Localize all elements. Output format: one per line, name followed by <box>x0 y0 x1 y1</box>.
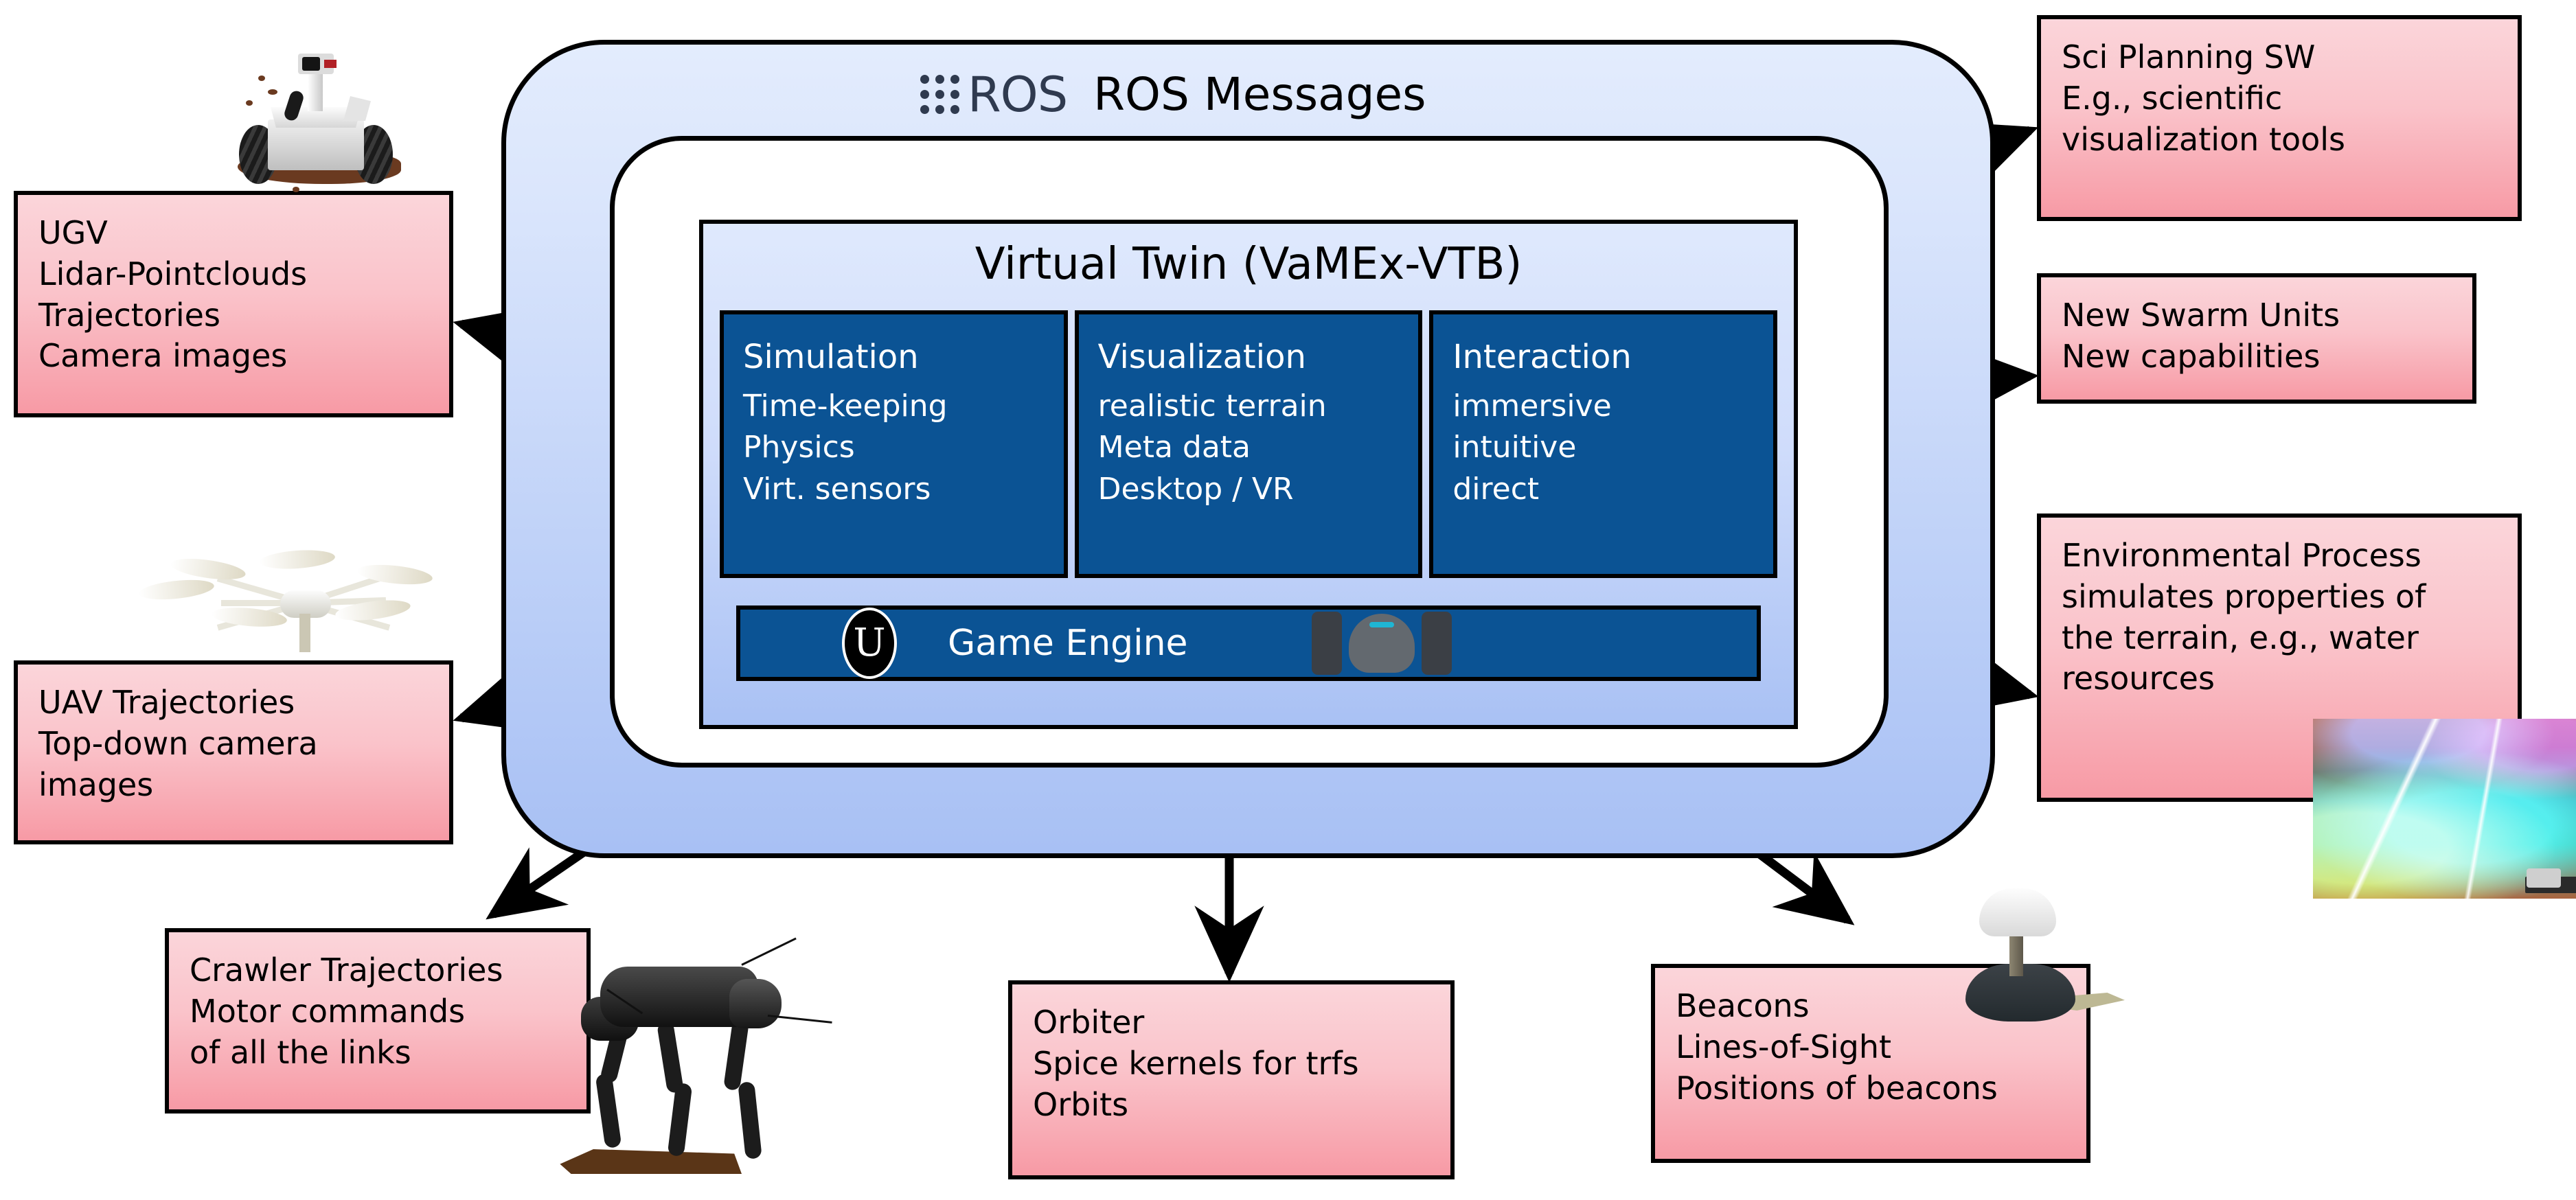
column-interaction-line-2: intuitive <box>1452 427 1755 468</box>
node-sci-planning: Sci Planning SW E.g., scientific visuali… <box>2037 15 2522 221</box>
node-beacons: Beacons Lines-of-Sight Positions of beac… <box>1651 964 2090 1163</box>
column-visualization-line-2: Meta data <box>1098 427 1401 468</box>
node-uav-line-3: images <box>38 765 429 806</box>
node-environment-line-3: the terrain, e.g., water <box>2062 618 2497 659</box>
vr-controller-right-icon <box>1422 612 1452 675</box>
unreal-engine-logo-icon: U <box>842 608 897 679</box>
node-environmental-process: Environmental Process simulates properti… <box>2037 514 2522 802</box>
unreal-logo-glyph: U <box>853 624 885 662</box>
node-orbiter-line-1: Orbiter <box>1033 1002 1430 1043</box>
vr-headset-and-controllers-icon <box>1312 612 1452 675</box>
vr-headset-icon <box>1349 614 1415 673</box>
virtual-twin-columns: Simulation Time-keeping Physics Virt. se… <box>720 310 1777 578</box>
ros-messages-label: ROS Messages <box>1093 68 1426 121</box>
virtual-twin-title: Virtual Twin (VaMEx-VTB) <box>703 239 1794 290</box>
node-sci-planning-line-1: Sci Planning SW <box>2062 37 2497 78</box>
game-engine-bar: U Game Engine <box>736 605 1761 681</box>
virtual-twin-ellipsis: ... <box>747 587 779 602</box>
node-crawler: Crawler Trajectories Motor commands of a… <box>165 928 591 1114</box>
node-sci-planning-line-3: visualization tools <box>2062 119 2497 161</box>
ros-logo-text: ROS <box>968 67 1067 123</box>
node-orbiter-line-2: Spice kernels for trfs <box>1033 1043 1430 1085</box>
column-simulation-heading: Simulation <box>743 338 1046 376</box>
node-uav-line-1: UAV Trajectories <box>38 682 429 724</box>
ros-logo: ROS <box>920 67 1067 123</box>
column-visualization-line-3: Desktop / VR <box>1098 469 1401 510</box>
node-beacons-line-3: Positions of beacons <box>1676 1068 2066 1109</box>
node-new-swarm-units: New Swarm Units New capabilities <box>2037 273 2476 404</box>
node-orbiter: Orbiter Spice kernels for trfs Orbits <box>1008 980 1455 1179</box>
node-crawler-line-2: Motor commands <box>190 991 566 1032</box>
node-ugv-line-4: Camera images <box>38 336 429 377</box>
node-uav-line-2: Top-down camera <box>38 724 429 765</box>
node-sci-planning-line-2: E.g., scientific <box>2062 78 2497 119</box>
node-environment-line-2: simulates properties of <box>2062 577 2497 618</box>
column-interaction-line-1: immersive <box>1452 386 1755 427</box>
ros-dot-grid-icon <box>920 75 959 114</box>
node-ugv: UGV Lidar-Pointclouds Trajectories Camer… <box>14 191 453 417</box>
node-beacons-line-2: Lines-of-Sight <box>1676 1027 2066 1068</box>
node-ugv-line-3: Trajectories <box>38 295 429 336</box>
column-visualization: Visualization realistic terrain Meta dat… <box>1075 310 1423 578</box>
column-simulation-line-1: Time-keeping <box>743 386 1046 427</box>
ros-band-label: ROS ROS Messages <box>920 58 1676 130</box>
node-environment-line-4: resources <box>2062 658 2497 700</box>
column-simulation-line-2: Physics <box>743 427 1046 468</box>
node-environment-line-1: Environmental Process <box>2062 535 2497 577</box>
node-ugv-line-1: UGV <box>38 213 429 254</box>
node-orbiter-line-3: Orbits <box>1033 1085 1430 1126</box>
node-swarm-line-2: New capabilities <box>2062 336 2452 378</box>
column-simulation: Simulation Time-keeping Physics Virt. se… <box>720 310 1068 578</box>
vr-controller-left-icon <box>1312 612 1342 675</box>
column-interaction-line-3: direct <box>1452 469 1755 510</box>
node-crawler-line-3: of all the links <box>190 1032 566 1074</box>
column-simulation-line-3: Virt. sensors <box>743 469 1046 510</box>
node-uav: UAV Trajectories Top-down camera images <box>14 660 453 844</box>
node-swarm-line-1: New Swarm Units <box>2062 295 2452 336</box>
column-visualization-heading: Visualization <box>1098 338 1401 376</box>
node-crawler-line-1: Crawler Trajectories <box>190 950 566 991</box>
column-interaction-heading: Interaction <box>1452 338 1755 376</box>
node-ugv-line-2: Lidar-Pointclouds <box>38 254 429 295</box>
column-interaction: Interaction immersive intuitive direct <box>1429 310 1777 578</box>
column-visualization-line-1: realistic terrain <box>1098 386 1401 427</box>
node-beacons-line-1: Beacons <box>1676 986 2066 1027</box>
game-engine-label: Game Engine <box>948 623 1188 664</box>
